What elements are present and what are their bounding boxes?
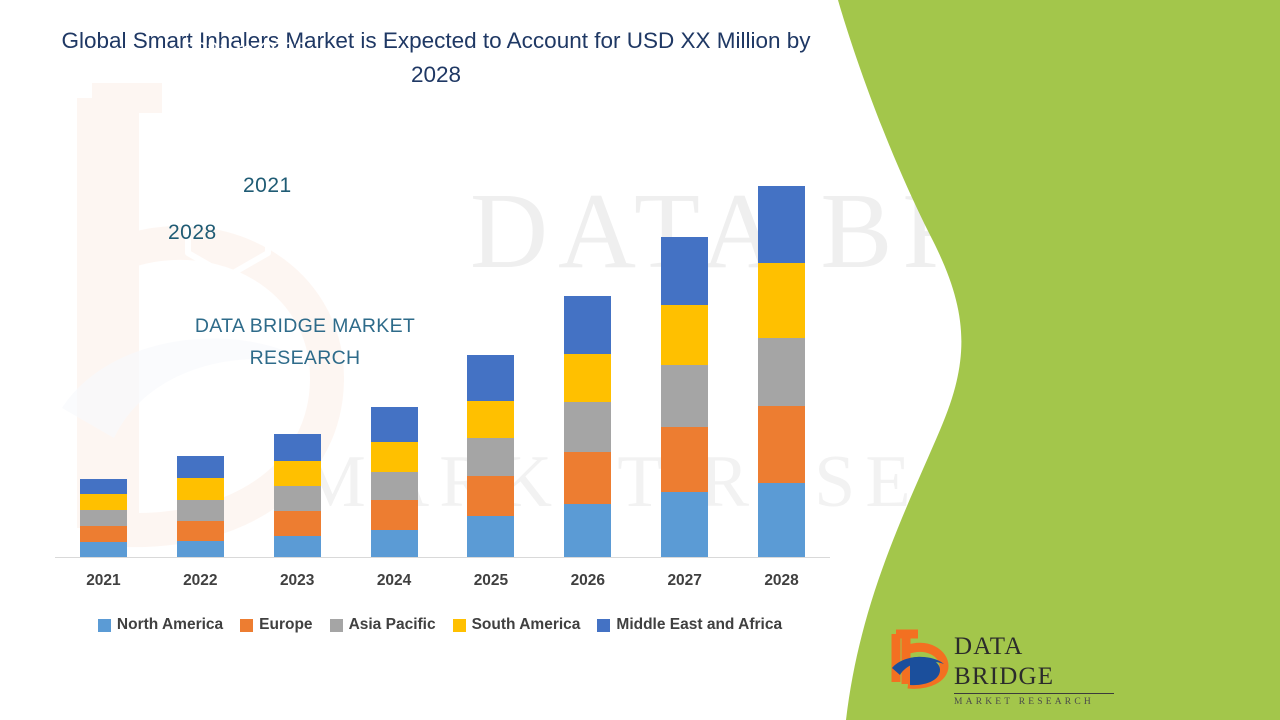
databridge-mark-icon	[888, 628, 950, 690]
green-side-panel	[820, 0, 1280, 720]
legend-swatch	[597, 619, 610, 632]
bar-segment	[564, 354, 611, 402]
bar-segment	[371, 500, 418, 530]
bar-segment	[758, 186, 805, 263]
logo-title: DATA BRIDGE	[954, 632, 1118, 692]
bar-segment	[80, 542, 127, 558]
hexagon-2021-label: 2021	[243, 174, 292, 198]
x-axis-label: 2023	[262, 572, 332, 590]
legend-swatch	[453, 619, 466, 632]
logo-divider	[954, 693, 1114, 694]
bar-segment	[371, 442, 418, 472]
legend-swatch	[330, 619, 343, 632]
bar-2023	[274, 434, 321, 558]
bar-segment	[467, 476, 514, 516]
bar-segment	[564, 402, 611, 452]
legend-item[interactable]: South America	[453, 616, 581, 634]
x-axis-label: 2022	[165, 572, 235, 590]
hexagon-badges	[150, 140, 390, 280]
legend-swatch	[98, 619, 111, 632]
bar-segment	[467, 355, 514, 401]
x-axis-label: 2026	[553, 572, 623, 590]
bar-segment	[177, 456, 224, 478]
bar-segment	[274, 434, 321, 461]
bar-segment	[661, 365, 708, 427]
x-axis-label: 2028	[747, 572, 817, 590]
legend-label: Asia Pacific	[349, 616, 436, 634]
bar-segment	[177, 478, 224, 500]
legend-label: South America	[472, 616, 581, 634]
bar-segment	[274, 486, 321, 511]
bar-segment	[80, 494, 127, 510]
bar-segment	[467, 516, 514, 558]
bar-segment	[371, 472, 418, 500]
x-axis-label: 2027	[650, 572, 720, 590]
bar-2026	[564, 296, 611, 558]
bar-2025	[467, 355, 514, 558]
bar-2021	[80, 479, 127, 558]
legend-label: Middle East and Africa	[616, 616, 782, 634]
bar-segment	[80, 526, 127, 542]
bar-segment	[758, 483, 805, 558]
x-axis-label: 2021	[68, 572, 138, 590]
bar-segment	[661, 237, 708, 305]
x-axis-labels: 20212022202320242025202620272028	[55, 572, 830, 600]
bar-2024	[371, 407, 418, 558]
bar-segment	[274, 461, 321, 486]
bar-segment	[661, 305, 708, 365]
x-axis-label: 2025	[456, 572, 526, 590]
x-axis-line	[55, 557, 830, 558]
bar-segment	[467, 401, 514, 438]
bar-segment	[177, 521, 224, 541]
legend-item[interactable]: North America	[98, 616, 223, 634]
chart-legend: North AmericaEuropeAsia PacificSouth Ame…	[45, 616, 835, 634]
bar-segment	[758, 406, 805, 483]
databridge-logo-text: DATA BRIDGE MARKET RESEARCH	[954, 632, 1118, 708]
bar-2022	[177, 456, 224, 558]
bar-segment	[371, 530, 418, 558]
panel-title: Global Smart Inhalers Market, By Regions…	[30, 4, 460, 66]
bar-2027	[661, 237, 708, 558]
bar-segment	[758, 263, 805, 338]
bar-segment	[80, 479, 127, 494]
bar-segment	[177, 541, 224, 558]
bar-segment	[274, 536, 321, 558]
logo-subtitle: MARKET RESEARCH	[954, 696, 1118, 708]
databridge-logo: DATA BRIDGE MARKET RESEARCH	[888, 628, 1118, 698]
bar-segment	[564, 504, 611, 558]
legend-label: North America	[117, 616, 223, 634]
legend-swatch	[240, 619, 253, 632]
legend-item[interactable]: Asia Pacific	[330, 616, 436, 634]
bar-segment	[80, 510, 127, 526]
bar-segment	[371, 407, 418, 442]
legend-label: Europe	[259, 616, 312, 634]
bar-segment	[564, 452, 611, 504]
bar-segment	[661, 427, 708, 492]
infographic-slide: DATA BRIDGE MARKET RESEARCH Global Smart…	[0, 0, 1280, 720]
legend-item[interactable]: Middle East and Africa	[597, 616, 782, 634]
bar-segment	[661, 492, 708, 558]
bar-segment	[177, 500, 224, 521]
panel-brand-text: DATA BRIDGE MARKET RESEARCH	[160, 310, 450, 374]
bar-segment	[758, 338, 805, 406]
x-axis-label: 2024	[359, 572, 429, 590]
bar-segment	[467, 438, 514, 476]
bar-segment	[564, 296, 611, 354]
hexagon-2028-label: 2028	[168, 221, 217, 245]
bar-2028	[758, 186, 805, 558]
bar-segment	[274, 511, 321, 536]
legend-item[interactable]: Europe	[240, 616, 312, 634]
